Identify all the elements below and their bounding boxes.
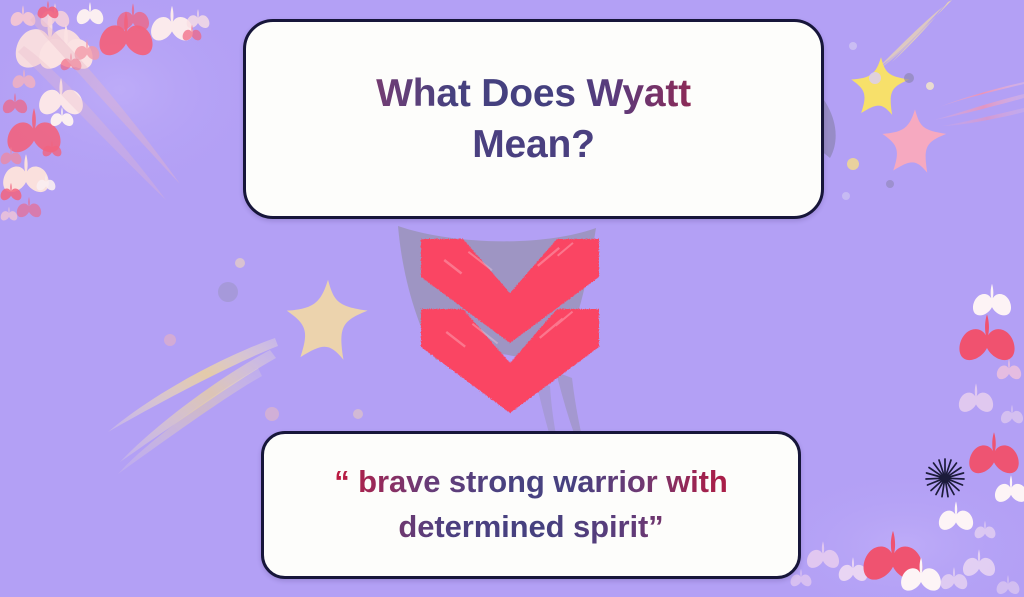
quote-line-2: determined spirit” [264,505,798,550]
shooting-star-pink-left [18,14,180,200]
quote-line-1: “ brave strong warrior with [264,460,798,505]
page-title-line-2: Mean? [246,119,821,170]
page-title-line-1: What Does Wyatt [246,68,821,119]
star-cream-left [287,280,368,360]
title-card: What Does Wyatt Mean? [243,19,824,219]
poster-canvas: What Does Wyatt Mean? “ brave strong war… [0,0,1024,597]
star-pink-top-right [882,109,946,172]
shooting-star-pink-top-right [932,82,1024,126]
star-yellow-top-right [851,57,909,115]
butterfly-cluster-top-left [1,1,210,221]
butterfly-cluster-right [939,284,1024,538]
meaning-quote-card: “ brave strong warrior with determined s… [261,431,801,579]
chevron-arrows-down [415,225,605,415]
sparkle-starburst [926,459,964,497]
shooting-star-yellow-top-right [878,0,952,70]
butterfly-cluster-bottom-right [791,531,1020,594]
shooting-star-cream-left [108,338,278,474]
